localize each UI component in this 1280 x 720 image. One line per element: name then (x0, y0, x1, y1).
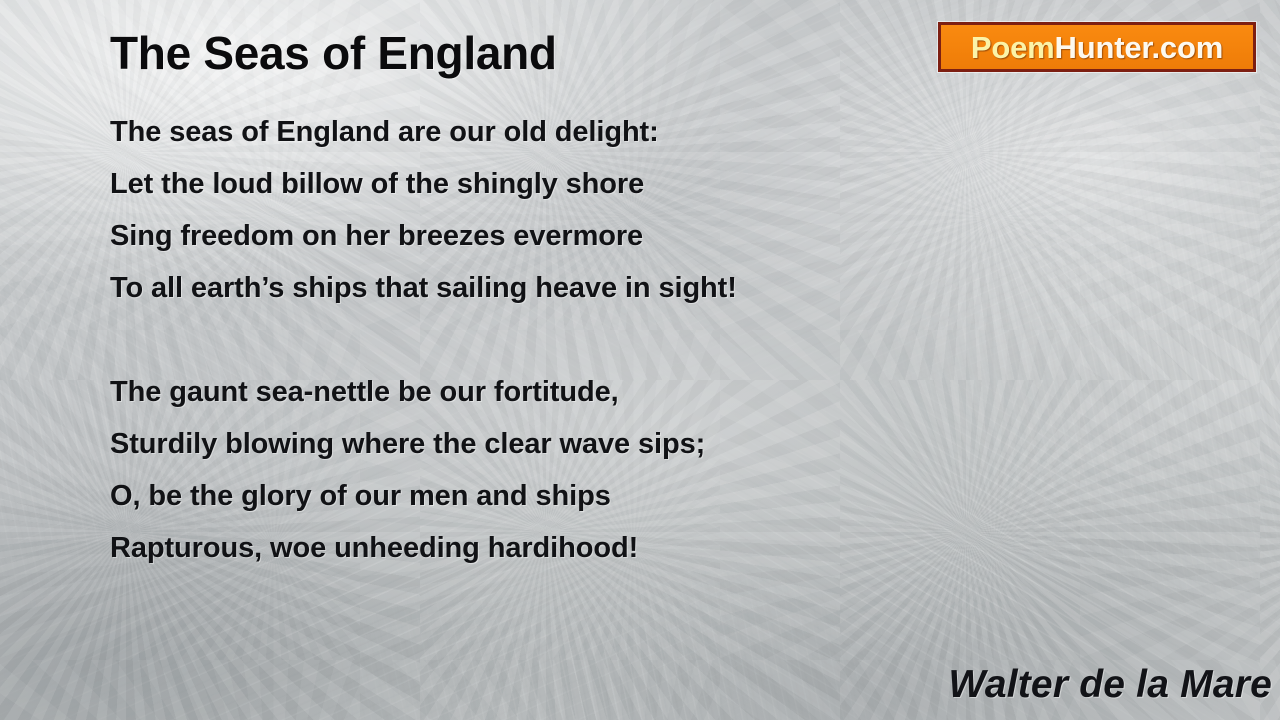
poem-title: The Seas of England (110, 26, 557, 80)
poem-body: The seas of England are our old delight:… (110, 106, 930, 574)
poem-line: Let the loud billow of the shingly shore (110, 158, 930, 210)
poem-line: To all earth’s ships that sailing heave … (110, 262, 930, 314)
poem-line: Rapturous, woe unheeding hardihood! (110, 522, 930, 574)
logo-text-poem: Poem (971, 30, 1055, 65)
poem-slide: The Seas of England The seas of England … (0, 0, 1280, 720)
poemhunter-logo[interactable]: PoemHunter.com (938, 22, 1256, 72)
poem-line: The seas of England are our old delight: (110, 106, 930, 158)
poem-stanza-break (110, 314, 930, 366)
poem-line: Sing freedom on her breezes evermore (110, 210, 930, 262)
slide-content: The Seas of England The seas of England … (0, 0, 1280, 720)
logo-wordmark: PoemHunter.com (971, 32, 1223, 63)
poem-author: Walter de la Mare (949, 663, 1272, 707)
logo-text-hunter: Hunter.com (1055, 30, 1224, 65)
poem-line: O, be the glory of our men and ships (110, 470, 930, 522)
poem-line: Sturdily blowing where the clear wave si… (110, 418, 930, 470)
poem-line: The gaunt sea-nettle be our fortitude, (110, 366, 930, 418)
